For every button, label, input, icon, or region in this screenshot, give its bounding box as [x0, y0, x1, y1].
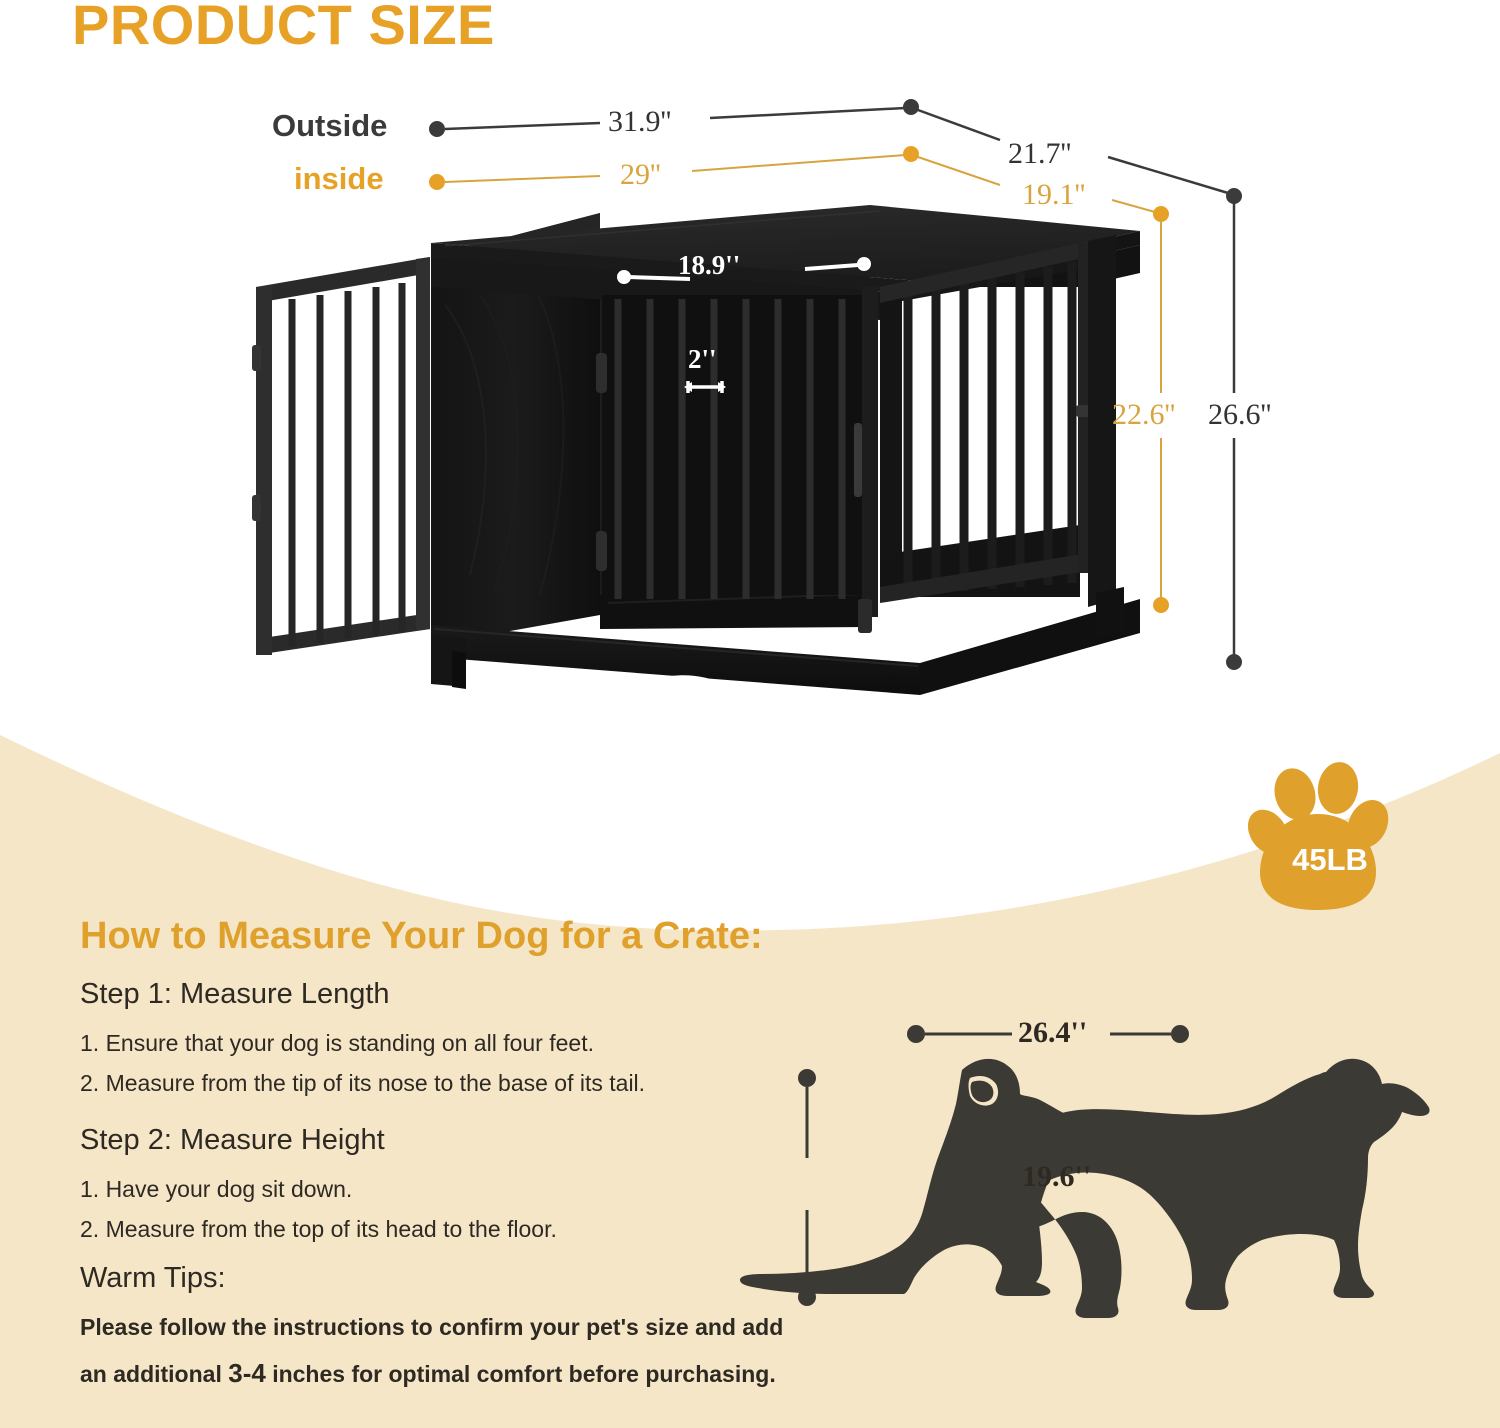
dimension-label-inside-width: 29'': [620, 158, 661, 192]
dimension-label-outside-width: 31.9'': [608, 105, 671, 139]
warm-tips-line-2: an additional 3-4 inches for optimal com…: [80, 1358, 776, 1389]
warm-tips-emphasis: 3-4: [228, 1358, 266, 1388]
warm-tips-heading: Warm Tips:: [80, 1262, 226, 1295]
step2-line-2: 2. Measure from the top of its head to t…: [80, 1216, 557, 1243]
dimension-label-outside-height: 26.6'': [1208, 398, 1271, 432]
dimension-label-dog-length: 26.4'': [1018, 1016, 1087, 1050]
dimension-label-outside-depth: 21.7'': [1008, 137, 1071, 171]
dimension-label-dog-height: 19.6'': [1022, 1160, 1091, 1194]
dimension-dog-height: [798, 1069, 816, 1306]
step1-heading: Step 1: Measure Length: [80, 978, 390, 1011]
legend-inside-label: inside: [294, 161, 384, 197]
step1-line-1: 1. Ensure that your dog is standing on a…: [80, 1030, 594, 1057]
howto-section-title: How to Measure Your Dog for a Crate:: [80, 915, 763, 958]
weight-badge: [1250, 752, 1410, 912]
dimension-label-inside-depth: 19.1'': [1022, 178, 1085, 212]
infographic-root: PRODUCT SIZE: [0, 0, 1500, 1428]
step2-line-1: 1. Have your dog sit down.: [80, 1176, 352, 1203]
legend-outside-label: Outside: [272, 108, 387, 144]
paw-print-icon: [1240, 759, 1396, 910]
step1-line-2: 2. Measure from the tip of its nose to t…: [80, 1070, 645, 1097]
dot-outside-height-bottom: [1226, 654, 1242, 670]
weight-badge-value: 45LB: [1266, 842, 1394, 878]
warm-tips-line-1: Please follow the instructions to confir…: [80, 1314, 783, 1341]
dog-measurement-diagram: [740, 1000, 1500, 1340]
dimension-label-inside-height: 22.6'': [1112, 398, 1175, 432]
dot-outside-width-end: [903, 99, 919, 115]
dot-inside-width-end: [903, 146, 919, 162]
dimension-leader-lines: [0, 0, 1500, 760]
dot-inside-height-bottom: [1153, 597, 1169, 613]
step2-heading: Step 2: Measure Height: [80, 1124, 385, 1157]
warm-tips-line-2-pre: an additional: [80, 1361, 228, 1387]
dot-outside-width-start: [429, 121, 445, 137]
dot-inside-width-start: [429, 174, 445, 190]
warm-tips-line-2-post: inches for optimal comfort before purcha…: [266, 1361, 776, 1387]
